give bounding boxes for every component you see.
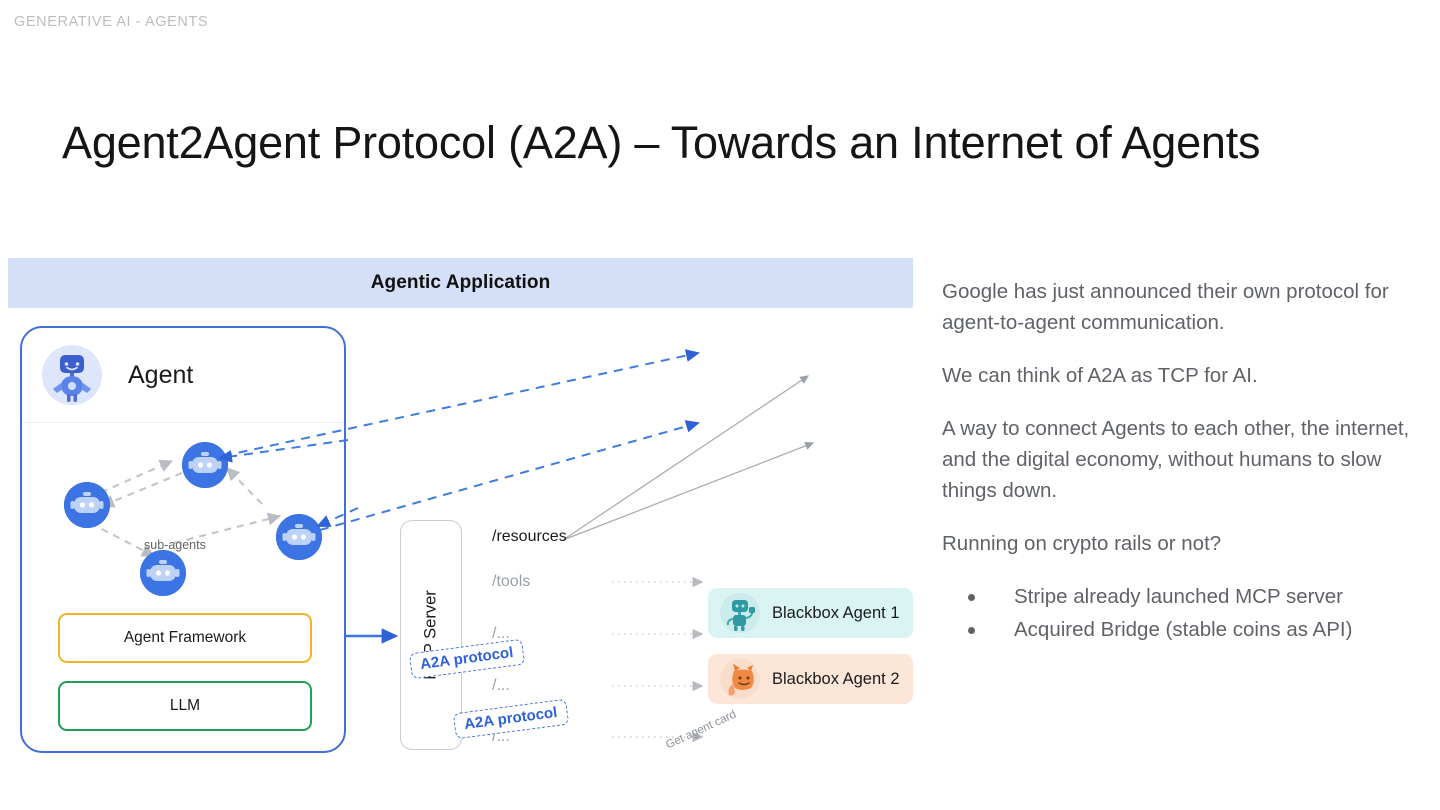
blackbox-agent-1-label: Blackbox Agent 1 [772, 604, 900, 623]
robot-avatar-icon [42, 345, 102, 405]
teal-robot-icon [720, 593, 760, 633]
mcp-endpoint-resources[interactable]: /resources [492, 528, 567, 546]
mcp-endpoint-tools[interactable]: /tools [492, 573, 530, 591]
slide-kicker: GENERATIVE AI - AGENTS [14, 14, 208, 30]
body-paragraph-3: A way to connect Agents to each other, t… [942, 413, 1432, 506]
mcp-server-box: MCP Server [400, 520, 462, 750]
agent-header: Agent [22, 328, 344, 423]
sub-agents-caption: sub-agents [144, 538, 206, 552]
body-copy: Google has just announced their own prot… [942, 276, 1432, 647]
llm-box: LLM [58, 681, 312, 731]
sub-agent-robot-icon [276, 514, 322, 560]
llm-label: LLM [170, 697, 200, 715]
agent-framework-box: Agent Framework [58, 613, 312, 663]
get-agent-card-label: Get agent card [664, 708, 738, 751]
mcp-endpoint-4[interactable]: /... [492, 677, 510, 695]
list-item: Stripe already launched MCP server [942, 581, 1432, 612]
sub-agent-robot-icon [182, 442, 228, 488]
list-item: Acquired Bridge (stable coins as API) [942, 614, 1432, 645]
body-paragraph-4: Running on crypto rails or not? [942, 528, 1432, 559]
blackbox-agent-2-label: Blackbox Agent 2 [772, 670, 900, 689]
page-title: Agent2Agent Protocol (A2A) – Towards an … [62, 112, 1260, 174]
agentic-application-diagram: Agentic Application Agent [8, 258, 913, 758]
agentic-application-banner-label: Agentic Application [371, 272, 551, 294]
a2a-protocol-label-2: A2A protocol [453, 699, 569, 740]
agentic-application-banner: Agentic Application [8, 258, 913, 308]
agent-label: Agent [128, 361, 193, 390]
agent-framework-label: Agent Framework [124, 629, 246, 647]
agent-container: Agent [20, 326, 346, 753]
body-paragraph-2: We can think of A2A as TCP for AI. [942, 360, 1432, 391]
blackbox-agent-2-card[interactable]: Blackbox Agent 2 [708, 654, 913, 704]
blackbox-agent-1-card[interactable]: Blackbox Agent 1 [708, 588, 913, 638]
body-paragraph-1: Google has just announced their own prot… [942, 276, 1432, 338]
sub-agent-robot-icon [64, 482, 110, 528]
bullet-list: Stripe already launched MCP server Acqui… [942, 581, 1432, 645]
orange-fox-icon [720, 659, 760, 699]
sub-agent-robot-icon [140, 550, 186, 596]
